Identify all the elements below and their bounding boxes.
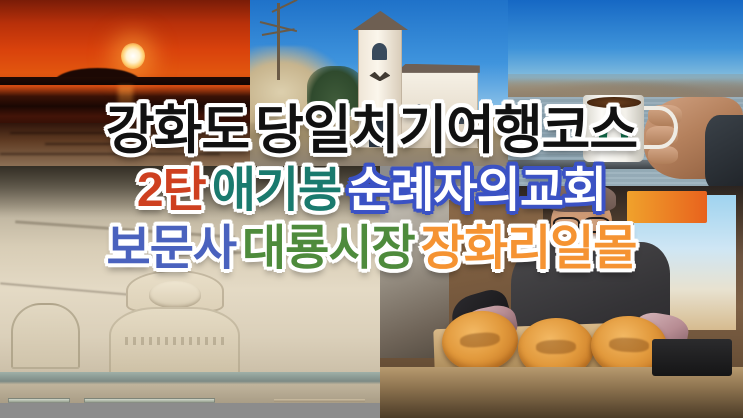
- stall-banner: [627, 191, 707, 223]
- chapel-door: [369, 111, 393, 147]
- photo-aegibong-coffee-view: [508, 0, 743, 186]
- photo-sunset-over-tidal-flat: [0, 0, 250, 166]
- tidal-flat-foreground: [0, 123, 250, 166]
- photo-pilgrims-church: [250, 0, 508, 166]
- vendor-face: [551, 193, 613, 253]
- coffee-surface: [587, 97, 641, 108]
- mud-streak: [45, 143, 230, 145]
- starbucks-siren-logo-icon: [599, 122, 628, 151]
- sun-reflection: [118, 86, 133, 116]
- photo-daeryong-market-vendor: [380, 186, 743, 418]
- chapel-tower-roof: [353, 11, 408, 30]
- evergreen-shrub: [307, 66, 364, 116]
- chapel-window: [457, 104, 464, 124]
- starbucks-mug: [583, 95, 644, 162]
- vendor-beanie: [547, 186, 616, 212]
- offering-case: [8, 398, 71, 403]
- chapel-nave-roof: [396, 64, 480, 73]
- vendor-smile: [567, 234, 597, 244]
- storage-bin: [652, 339, 732, 376]
- shrine-platform: [0, 372, 380, 403]
- vendor-glasses-icon: [553, 217, 610, 229]
- rock-crack: [15, 220, 235, 238]
- chapel-window: [415, 104, 422, 124]
- mud-streak: [0, 153, 220, 155]
- bottom-letterbox-bar: [0, 403, 380, 418]
- wooden-bench: [274, 399, 365, 402]
- mud-streak: [10, 132, 160, 134]
- photo-bomunsa-rock-buddha: [0, 166, 380, 403]
- bell-opening: [372, 43, 387, 60]
- sun-disc: [121, 43, 145, 69]
- horizon-line: [0, 77, 250, 85]
- rock-overhang-shadow: [0, 166, 380, 218]
- bird-emblem-icon: [369, 72, 390, 82]
- rock-crack: [114, 247, 365, 259]
- video-thumbnail: 강화도 당일치기여행코스 2탄 애기봉 순례자의교회 보문사 대룡시장 장화리일…: [0, 0, 743, 418]
- offering-case: [84, 398, 215, 403]
- chapel-nave: [397, 70, 478, 148]
- jacket-sleeve: [705, 115, 743, 186]
- chapel-bell-tower: [358, 27, 402, 149]
- carved-stele-panel: [11, 303, 80, 369]
- chapel-window: [436, 104, 443, 124]
- buddha-head: [149, 281, 201, 308]
- chapel-building: [358, 27, 472, 147]
